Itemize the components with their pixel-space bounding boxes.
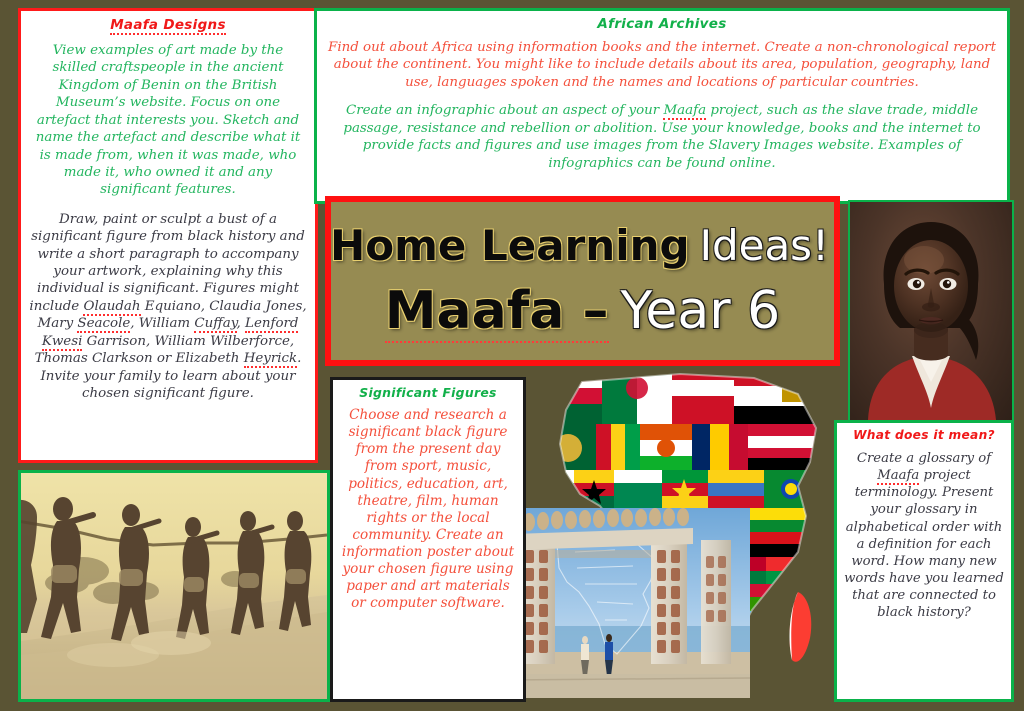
memorial-gate-illustration (505, 508, 750, 698)
enslaved-people-illustration (21, 473, 327, 699)
panel-heading-significant-figures: Significant Figures (340, 385, 516, 400)
banner-line2-bold: Maafa – (385, 281, 609, 343)
portrait-illustration (850, 202, 1012, 420)
panel-what-does-it-mean: What does it mean? Create a glossary of … (834, 420, 1014, 702)
panel-maafa-designs: Maafa Designs View examples of art made … (18, 8, 318, 463)
archives-paragraph-2: Create an infographic about an aspect of… (327, 102, 997, 172)
image-enslaved-people (18, 470, 330, 702)
poster-canvas: Maafa Designs View examples of art made … (0, 0, 1024, 711)
panel-heading-maafa-designs: Maafa Designs (29, 17, 307, 33)
image-memorial-gate (505, 508, 750, 698)
glossary-paragraph-1: Create a glossary of Maafa project termi… (843, 450, 1005, 622)
designs-paragraph-2: Draw, paint or sculpt a bust of a signif… (29, 211, 307, 403)
banner-line-2: Maafa –Year 6 (385, 284, 780, 338)
figures-paragraph-1: Choose and research a significant black … (340, 407, 516, 613)
banner-line1-plain: Ideas! (700, 221, 829, 270)
panel-heading-african-archives: African Archives (327, 16, 997, 32)
panel-significant-figures: Significant Figures Choose and research … (330, 377, 526, 702)
archives-paragraph-1: Find out about Africa using information … (327, 39, 997, 91)
madagascar-flag-shape (790, 592, 812, 662)
designs-paragraph-1: View examples of art made by the skilled… (29, 42, 307, 199)
banner-line2-plain: Year 6 (621, 281, 781, 341)
image-historical-portrait (848, 200, 1014, 422)
banner-line-1: Home LearningIdeas! (330, 224, 835, 268)
panel-heading-what-does-it-mean: What does it mean? (843, 428, 1005, 442)
banner-line1-bold: Home Learning (330, 221, 689, 270)
title-banner: Home LearningIdeas! Maafa –Year 6 (325, 196, 840, 366)
panel-african-archives: African Archives Find out about Africa u… (314, 8, 1010, 204)
